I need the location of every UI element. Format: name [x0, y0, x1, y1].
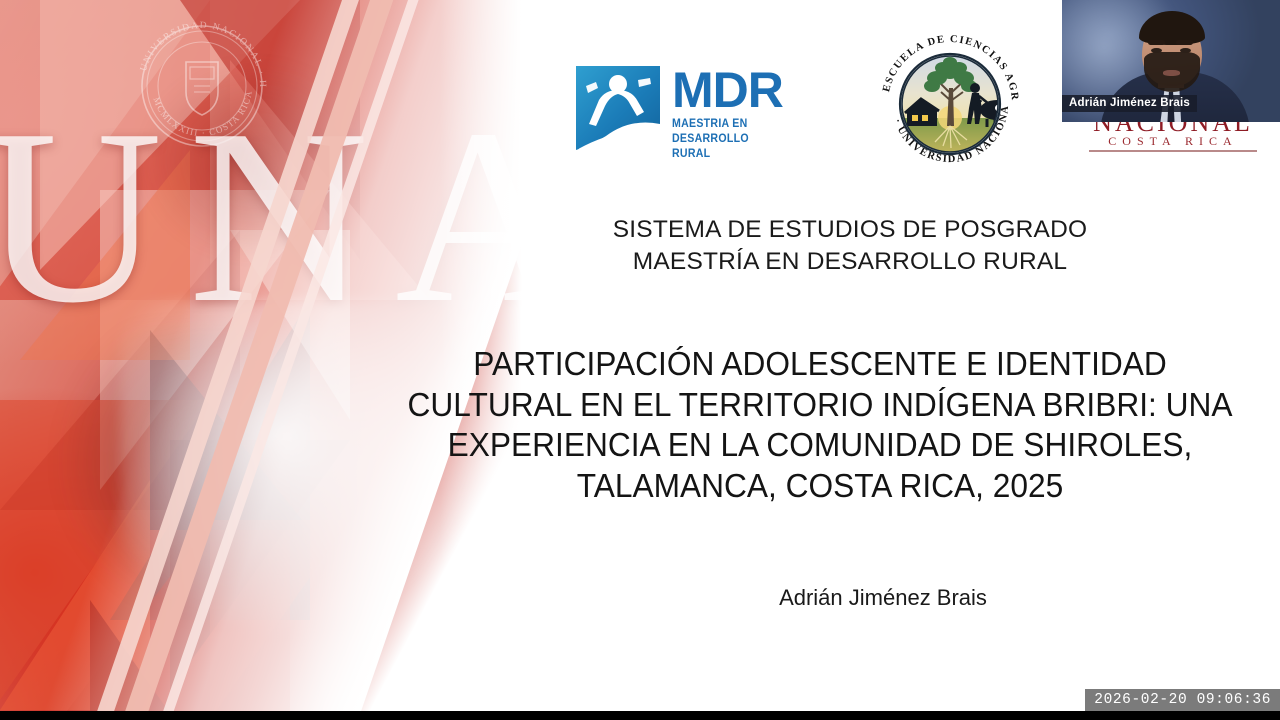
mdr-subtitle-line1: MAESTRIA EN DESARROLLO [672, 117, 782, 147]
title-line-4: TALAMANCA, COSTA RICA, 2025 [398, 466, 1243, 507]
webcam-participant-eye [1151, 48, 1162, 53]
header-line-1: SISTEMA DE ESTUDIOS DE POSGRADO [500, 214, 1200, 246]
escuela-ciencias-agrarias-seal-icon: ESCUELA DE CIENCIAS AGRARIAS · UNIVERSID… [875, 26, 1025, 176]
letterbox-bar [0, 711, 1280, 720]
webcam-video-tile[interactable]: Adrián Jiménez Brais [1062, 0, 1280, 122]
title-line-2: CULTURAL EN EL TERRITORIO INDÍGENA BRIBR… [398, 385, 1243, 426]
slide-header-text: SISTEMA DE ESTUDIOS DE POSGRADO MAESTRÍA… [500, 214, 1200, 278]
header-line-2: MAESTRÍA EN DESARROLLO RURAL [500, 246, 1200, 278]
webcam-participant-eye [1180, 48, 1191, 53]
webcam-participant-mouth [1163, 70, 1180, 76]
slide-author: Adrián Jiménez Brais [583, 585, 1183, 611]
title-line-3: EXPERIENCIA EN LA COMUNIDAD DE SHIROLES, [398, 425, 1243, 466]
mdr-subtitle-line2: RURAL [672, 147, 782, 162]
recording-timestamp: 2026-02-20 09:06:36 [1085, 689, 1280, 712]
mdr-logo-text: MDR MAESTRIA EN DESARROLLO RURAL [672, 66, 792, 162]
una-wordmark-rule [1089, 150, 1257, 152]
una-wordmark-line2: COSTA RICA [1078, 134, 1268, 149]
slide-title: PARTICIPACIÓN ADOLESCENTE E IDENTIDAD CU… [398, 344, 1243, 506]
mdr-acronym: MDR [672, 66, 792, 114]
mdr-figure-icon [572, 62, 664, 154]
screen-recording-frame: UNIVERSIDAD NACIONAL · HEREDIA MCMLXXIII… [0, 0, 1280, 720]
title-line-1: PARTICIPACIÓN ADOLESCENTE E IDENTIDAD [398, 344, 1243, 385]
webcam-participant-eyebrow [1176, 40, 1193, 45]
mdr-logo: MDR MAESTRIA EN DESARROLLO RURAL [572, 62, 792, 158]
mdr-subtitle: MAESTRIA EN DESARROLLO RURAL [672, 117, 782, 162]
webcam-participant-eyebrow [1148, 40, 1165, 45]
webcam-participant-name-label: Adrián Jiménez Brais [1062, 95, 1197, 112]
